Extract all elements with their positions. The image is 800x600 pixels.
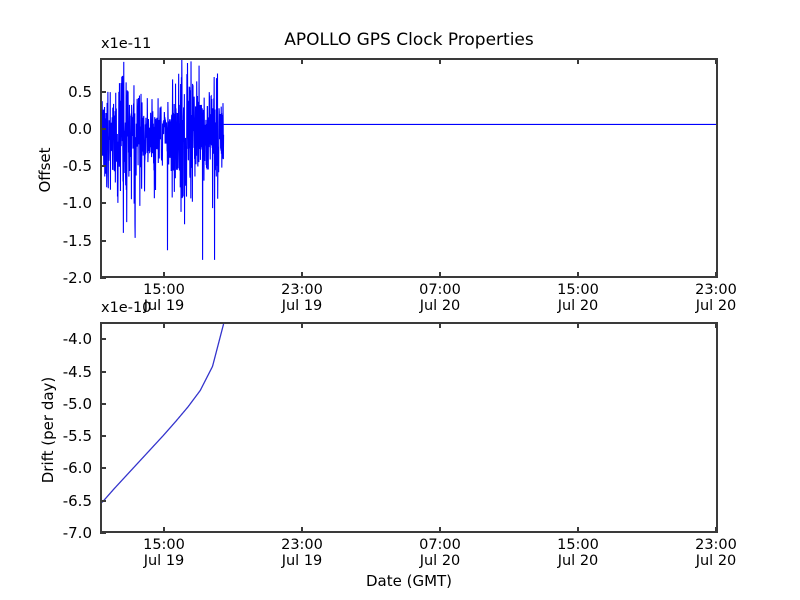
x-tick-label: 15:00Jul 20	[523, 283, 633, 314]
matplotlib-figure: APOLLO GPS Clock Properties x1e-11 x1e-1…	[0, 0, 800, 600]
offset-y-axis-label: Offset	[36, 60, 54, 280]
x-tick-label: 23:00Jul 20	[661, 538, 771, 569]
offset-exponent-label: x1e-11	[101, 36, 151, 52]
x-tick-label: 23:00Jul 20	[661, 283, 771, 314]
x-tick-label: 23:00Jul 19	[247, 538, 357, 569]
offset-data-line	[102, 60, 716, 276]
drift-polyline	[102, 324, 224, 503]
offset-plot-area	[100, 58, 718, 278]
drift-data-line	[102, 324, 716, 531]
drift-y-axis-label: Drift (per day)	[39, 300, 57, 560]
x-axis-label: Date (GMT)	[100, 572, 718, 590]
offset-noise-polyline	[102, 60, 224, 260]
x-tick-label: 07:00Jul 20	[385, 538, 495, 569]
x-tick-label: 07:00Jul 20	[385, 283, 495, 314]
drift-exponent-label: x1e-10	[101, 300, 151, 316]
drift-plot-area	[100, 322, 718, 533]
x-tick-label: 23:00Jul 19	[247, 283, 357, 314]
page-title: APOLLO GPS Clock Properties	[100, 30, 718, 50]
x-tick-label: 15:00Jul 19	[109, 538, 219, 569]
x-tick-label: 15:00Jul 20	[523, 538, 633, 569]
